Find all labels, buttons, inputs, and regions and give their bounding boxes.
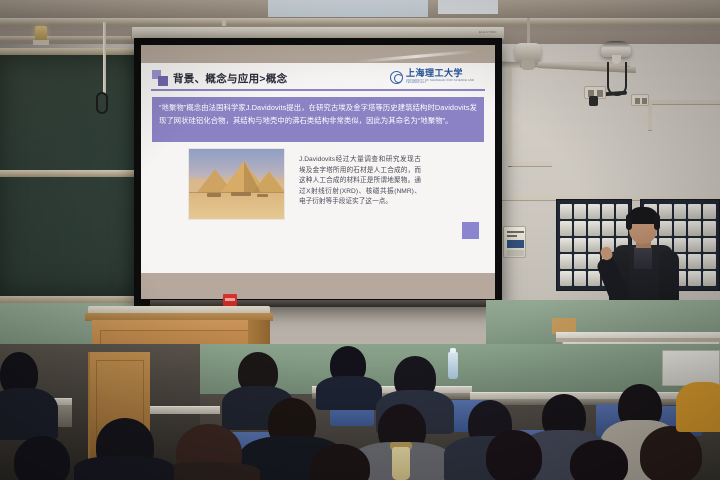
slide-bottom-band <box>141 273 495 299</box>
audience-shoulders <box>160 462 260 480</box>
desert-sand <box>189 193 285 219</box>
pyramid-shadow <box>244 161 262 195</box>
audience-shoulders <box>676 382 720 432</box>
lecture-hall-photo: ELECTRIC 背景、概念与应用>概念 上海理工大学 UNIVERSITY O… <box>0 0 720 480</box>
desk-row <box>150 406 220 414</box>
conduit-horizontal <box>508 162 552 166</box>
pointer-rod[interactable] <box>103 22 106 94</box>
plug <box>589 96 598 106</box>
wall-lamp-base <box>33 40 49 45</box>
ceiling-window <box>268 0 428 17</box>
wall-lamp-icon <box>35 26 47 41</box>
logo-emblem-icon <box>390 71 403 84</box>
conduit-horizontal <box>648 100 720 104</box>
pyramids-image <box>188 148 285 220</box>
screen-brand-label: ELECTRIC <box>479 30 497 34</box>
audience-shoulders <box>316 376 382 410</box>
audience-head <box>486 430 542 480</box>
fan-rod <box>527 18 530 46</box>
presenter-hair <box>654 214 660 230</box>
bottle-cap <box>450 348 456 353</box>
desert-detail <box>257 194 268 197</box>
decorative-square <box>158 76 168 86</box>
ceiling-rail <box>0 18 720 25</box>
audience-shoulders <box>0 388 58 440</box>
slide-body: 背景、概念与应用>概念 上海理工大学 UNIVERSITY OF SHANGHA… <box>141 63 495 273</box>
control-panel-display <box>507 240 524 248</box>
decorative-square <box>462 222 479 239</box>
highlight-text-box: “地聚物”概念由法国科学家J.Davidovits提出，在研究古埃及金字塔等历史… <box>152 97 484 142</box>
presentation-slide: 背景、概念与应用>概念 上海理工大学 UNIVERSITY OF SHANGHA… <box>141 45 495 299</box>
university-logo: 上海理工大学 UNIVERSITY OF SHANGHAI FOR SCIENC… <box>390 67 484 87</box>
ceiling-window-secondary <box>438 0 498 14</box>
audience-head <box>14 436 70 480</box>
audience-head <box>570 440 628 480</box>
conduit-vertical <box>508 62 512 166</box>
drink-cup <box>392 447 410 480</box>
logo-english-name: UNIVERSITY OF SHANGHAI FOR SCIENCE AND T… <box>406 80 484 85</box>
logo-chinese-name: 上海理工大学 <box>406 69 484 78</box>
highlight-paragraph: “地聚物”概念由法国科学家J.Davidovits提出，在研究古埃及金字塔等历史… <box>159 102 477 127</box>
control-panel-buttons[interactable] <box>507 250 524 256</box>
wall-control-panel[interactable] <box>503 226 526 258</box>
audience-head <box>640 426 702 480</box>
presenter-shirt <box>634 247 652 269</box>
chalkboard-rail <box>0 48 148 55</box>
body-text-block: J.Davidovits经过大量调查和研究发现古埃及金字塔所用的石材是人工合成的… <box>299 155 421 208</box>
title-divider <box>151 89 485 91</box>
power-outlet[interactable] <box>631 94 649 106</box>
body-paragraph: J.Davidovits经过大量调查和研究发现古埃及金字塔所用的石材是人工合成的… <box>299 155 421 208</box>
hook-icon <box>96 92 108 114</box>
small-whiteboard <box>662 350 720 386</box>
slide-title: 背景、概念与应用>概念 <box>173 71 373 86</box>
fan-hub <box>521 60 535 70</box>
water-bottle <box>448 352 458 379</box>
audience-shoulders <box>74 456 174 480</box>
chalkboard-rail <box>0 170 148 177</box>
projection-screen: 背景、概念与应用>概念 上海理工大学 UNIVERSITY OF SHANGHA… <box>141 45 495 299</box>
presenter-hair <box>626 214 632 230</box>
desert-detail <box>207 193 221 197</box>
desert-detail <box>231 192 251 196</box>
